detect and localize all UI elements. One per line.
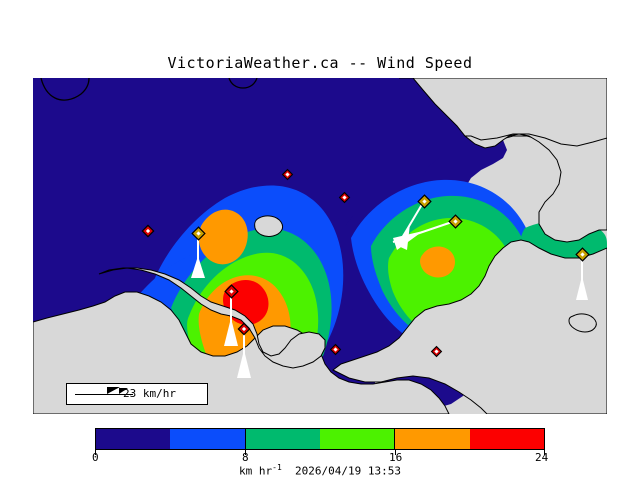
colorbar[interactable] (95, 428, 545, 450)
colorbar-segment-0 (96, 429, 170, 449)
wind-scale-label: 23 km/hr (123, 387, 176, 400)
wind-scale-legend: 23 km/hr (66, 383, 208, 405)
colorbar-segment-2 (245, 429, 320, 449)
map-contour-svg (33, 78, 607, 414)
colorbar-segment-3 (320, 429, 394, 449)
colorbar-segment-4 (394, 429, 469, 449)
colorbar-segment-1 (170, 429, 244, 449)
page-title: VictoriaWeather.ca -- Wind Speed (0, 54, 640, 72)
colorbar-units-exponent: -1 (272, 463, 282, 472)
colorbar-timestamp: 2026/04/19 13:53 (295, 465, 401, 478)
colorbar-units: km hr (239, 465, 272, 478)
map-canvas[interactable] (33, 78, 607, 414)
wind-speed-map-page: VictoriaWeather.ca -- Wind Speed (0, 0, 640, 480)
colorbar-units-and-timestamp: km hr-1 2026/04/19 13:53 (0, 463, 640, 478)
colorbar-segment-5 (470, 429, 544, 449)
